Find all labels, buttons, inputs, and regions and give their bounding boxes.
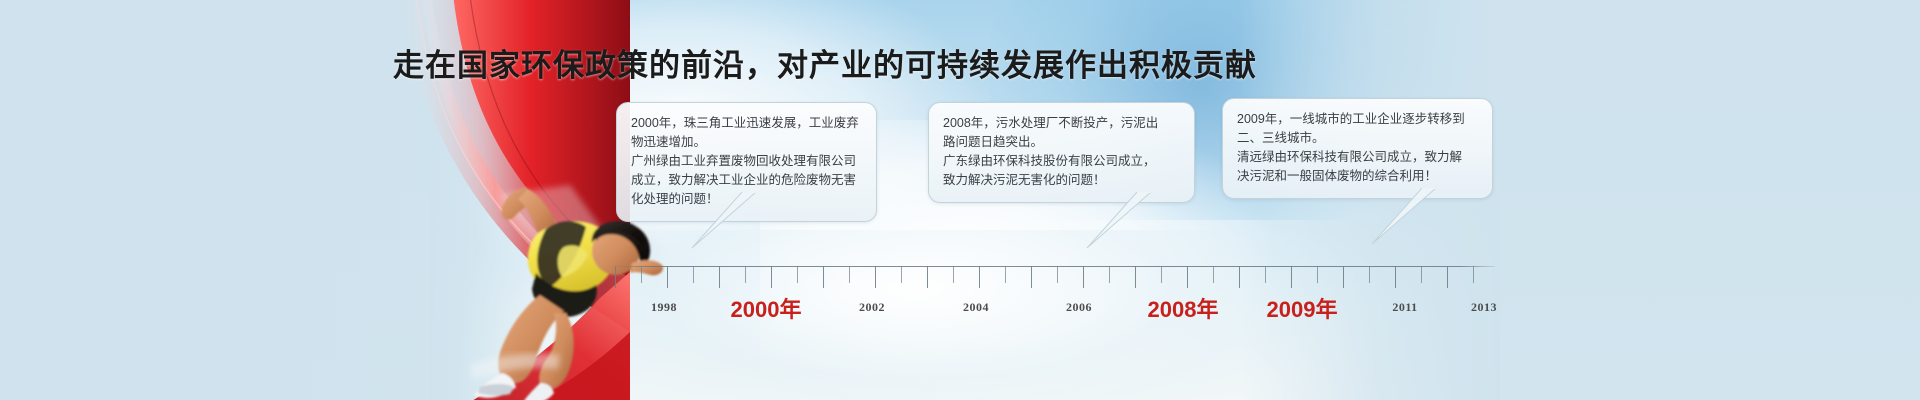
ruler-tick xyxy=(667,266,668,288)
timeline-year-2004: 2004 xyxy=(963,300,989,315)
bubble-line: 清远绿由环保科技有限公司成立，致力解 xyxy=(1237,148,1479,167)
bubble-tail-2000 xyxy=(690,192,760,252)
timeline-year-labels: 19982000年2002200420062008年2009年20112013 xyxy=(0,300,1920,340)
ruler-tick xyxy=(1005,266,1006,283)
ruler-tick xyxy=(615,266,616,288)
timeline-year-1998: 1998 xyxy=(651,300,677,315)
ruler-tick xyxy=(1317,266,1318,283)
bubble-tail-2008 xyxy=(1085,192,1155,252)
timeline-year-2009: 2009年 xyxy=(1267,292,1338,324)
bubble-line: 致力解决污泥无害化的问题！ xyxy=(943,171,1181,190)
ruler-tick xyxy=(1083,266,1084,288)
ruler-tick xyxy=(641,266,642,283)
ruler-tick xyxy=(1161,266,1162,283)
timeline-year-2002: 2002 xyxy=(859,300,885,315)
ruler-tick xyxy=(745,266,746,283)
timeline-year-2011: 2011 xyxy=(1392,300,1417,315)
bubble-line: 物迅速增加。 xyxy=(631,133,863,152)
ruler-tick xyxy=(1057,266,1058,283)
ruler-tick xyxy=(1187,266,1188,288)
ruler-tick xyxy=(1265,266,1266,283)
bubble-line: 广东绿由环保科技股份有限公司成立， xyxy=(943,152,1181,171)
bubble-line: 二、三线城市。 xyxy=(1237,129,1479,148)
banner-stage: 走在国家环保政策的前沿，对产业的可持续发展作出积极贡献 2000年，珠三角工业迅… xyxy=(0,0,1920,400)
ruler-tick xyxy=(1447,266,1448,288)
ruler-tick xyxy=(1421,266,1422,283)
timeline-ruler xyxy=(615,266,1495,292)
page-title: 走在国家环保政策的前沿，对产业的可持续发展作出积极贡献 xyxy=(0,40,1785,85)
ruler-tick xyxy=(1109,266,1110,283)
bubble-tail-2009 xyxy=(1370,188,1440,248)
timeline-year-2000: 2000年 xyxy=(731,292,802,324)
bubble-line: 2009年，一线城市的工业企业逐步转移到 xyxy=(1237,110,1479,129)
ruler-tick xyxy=(797,266,798,283)
ruler-tick xyxy=(1369,266,1370,283)
bubble-line: 路问题日趋突出。 xyxy=(943,133,1181,152)
bubble-line: 广州绿由工业弃置废物回收处理有限公司 xyxy=(631,152,863,171)
bubble-line: 成立，致力解决工业企业的危险废物无害 xyxy=(631,171,863,190)
ruler-tick xyxy=(1343,266,1344,288)
ruler-tick xyxy=(1031,266,1032,288)
ruler-tick xyxy=(927,266,928,288)
ruler-tick xyxy=(1291,266,1292,288)
ruler-tick xyxy=(953,266,954,283)
bubble-line: 2008年，污水处理厂不断投产，污泥出 xyxy=(943,114,1181,133)
bubble-line: 决污泥和一般固体废物的综合利用！ xyxy=(1237,167,1479,186)
milestone-bubble-2008: 2008年，污水处理厂不断投产，污泥出 路问题日趋突出。 广东绿由环保科技股份有… xyxy=(928,102,1195,203)
ruler-tick xyxy=(823,266,824,288)
milestone-bubble-2009: 2009年，一线城市的工业企业逐步转移到 二、三线城市。 清远绿由环保科技有限公… xyxy=(1222,98,1493,199)
ruler-tick xyxy=(771,266,772,288)
ruler-tick xyxy=(1213,266,1214,283)
ruler-tick xyxy=(693,266,694,283)
ruler-tick xyxy=(719,266,720,288)
timeline-year-2006: 2006 xyxy=(1066,300,1092,315)
ruler-tick xyxy=(979,266,980,288)
ruler-tick xyxy=(901,266,902,283)
ruler-tick xyxy=(1473,266,1474,283)
ruler-tick xyxy=(1395,266,1396,288)
timeline-year-2008: 2008年 xyxy=(1148,292,1219,324)
ruler-tick xyxy=(875,266,876,288)
ruler-tick xyxy=(1239,266,1240,288)
ruler-tick xyxy=(1135,266,1136,288)
bubble-line: 2000年，珠三角工业迅速发展，工业废弃 xyxy=(631,114,863,133)
ruler-baseline xyxy=(615,266,1495,267)
ruler-tick xyxy=(849,266,850,283)
timeline-year-2013: 2013 xyxy=(1471,300,1497,315)
